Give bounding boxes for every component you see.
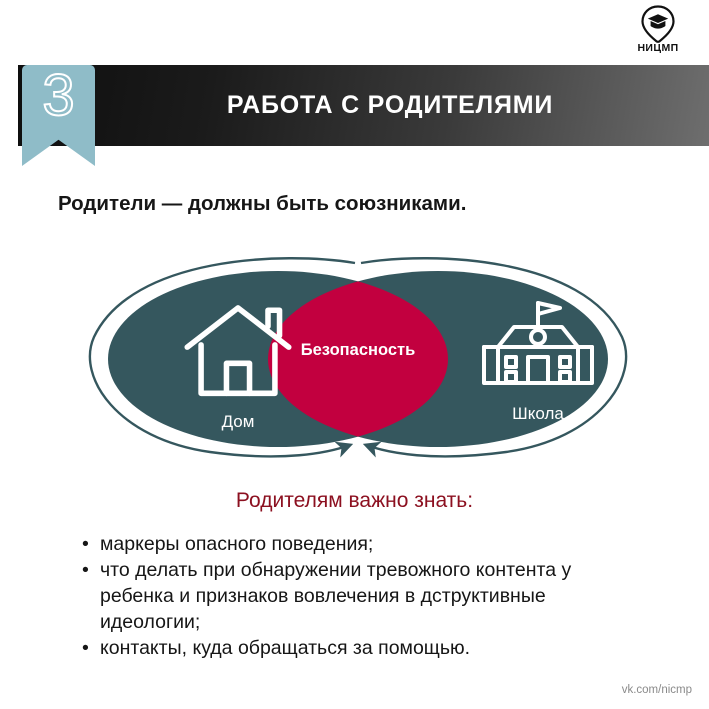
footer-link[interactable]: vk.com/nicmp [622, 684, 692, 696]
know-list: маркеры опасного поведения; что делать п… [78, 531, 648, 661]
venn-right-label: Школа [478, 405, 598, 422]
venn-center-label: Безопасность [268, 341, 448, 360]
list-item: маркеры опасного поведения; [78, 531, 648, 557]
section-number-ribbon: 3 [22, 65, 95, 166]
logo-text: НИЦМП [637, 43, 678, 54]
brand-logo: НИЦМП [621, 4, 695, 60]
list-item: что делать при обнаружении тревожного ко… [78, 557, 648, 635]
venn-left-label: Дом [178, 413, 298, 430]
page-title: РАБОТА С РОДИТЕЛЯМИ [150, 65, 630, 146]
venn-left-item: Дом [178, 301, 298, 430]
venn-diagram: Дом Школа Безопасность [78, 243, 638, 468]
ribbon-number: 3 [22, 67, 95, 125]
graduation-cap-pin-icon [638, 4, 678, 44]
list-item: контакты, куда обращаться за помощью. [78, 635, 648, 661]
school-icon [478, 295, 598, 399]
subtitle: Родители — должны быть союзниками. [58, 192, 466, 216]
venn-right-item: Школа [478, 295, 598, 422]
know-heading: Родителям важно знать: [0, 489, 709, 513]
